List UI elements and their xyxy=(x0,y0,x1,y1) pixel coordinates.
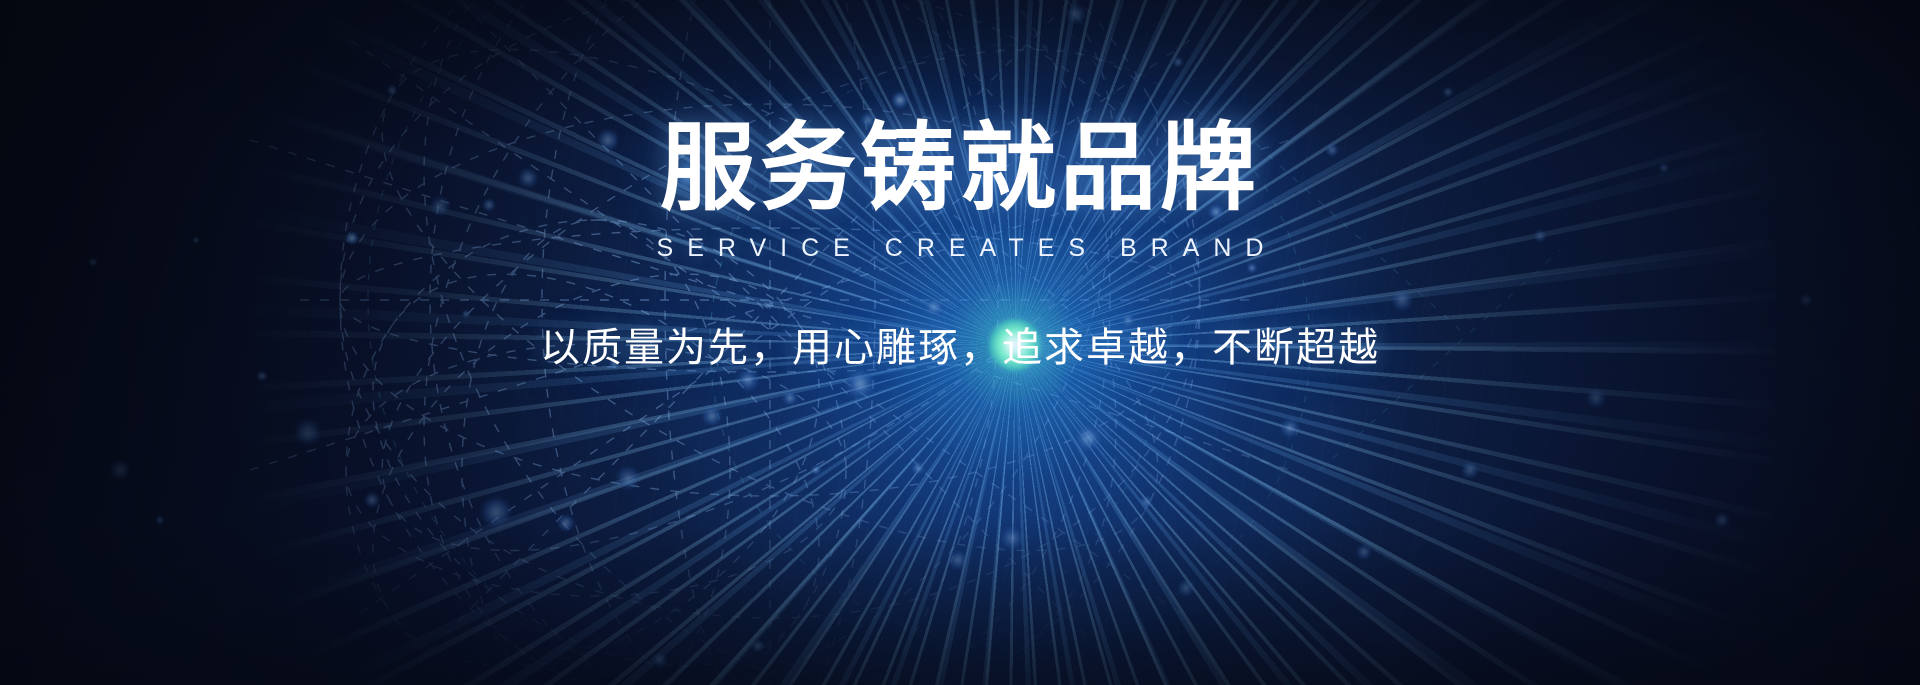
banner-subtitle: SERVICE CREATES BRAND xyxy=(0,234,1920,263)
bokeh-particle xyxy=(156,516,164,524)
bokeh-particle xyxy=(111,461,129,479)
banner-headline: 服务铸就品牌 xyxy=(0,0,1920,220)
banner-text-block: 服务铸就品牌 SERVICE CREATES BRAND 以质量为先，用心雕琢，… xyxy=(0,0,1920,373)
hero-banner: 服务铸就品牌 SERVICE CREATES BRAND 以质量为先，用心雕琢，… xyxy=(0,0,1920,685)
banner-tagline: 以质量为先，用心雕琢，追求卓越，不断超越 xyxy=(0,315,1920,373)
